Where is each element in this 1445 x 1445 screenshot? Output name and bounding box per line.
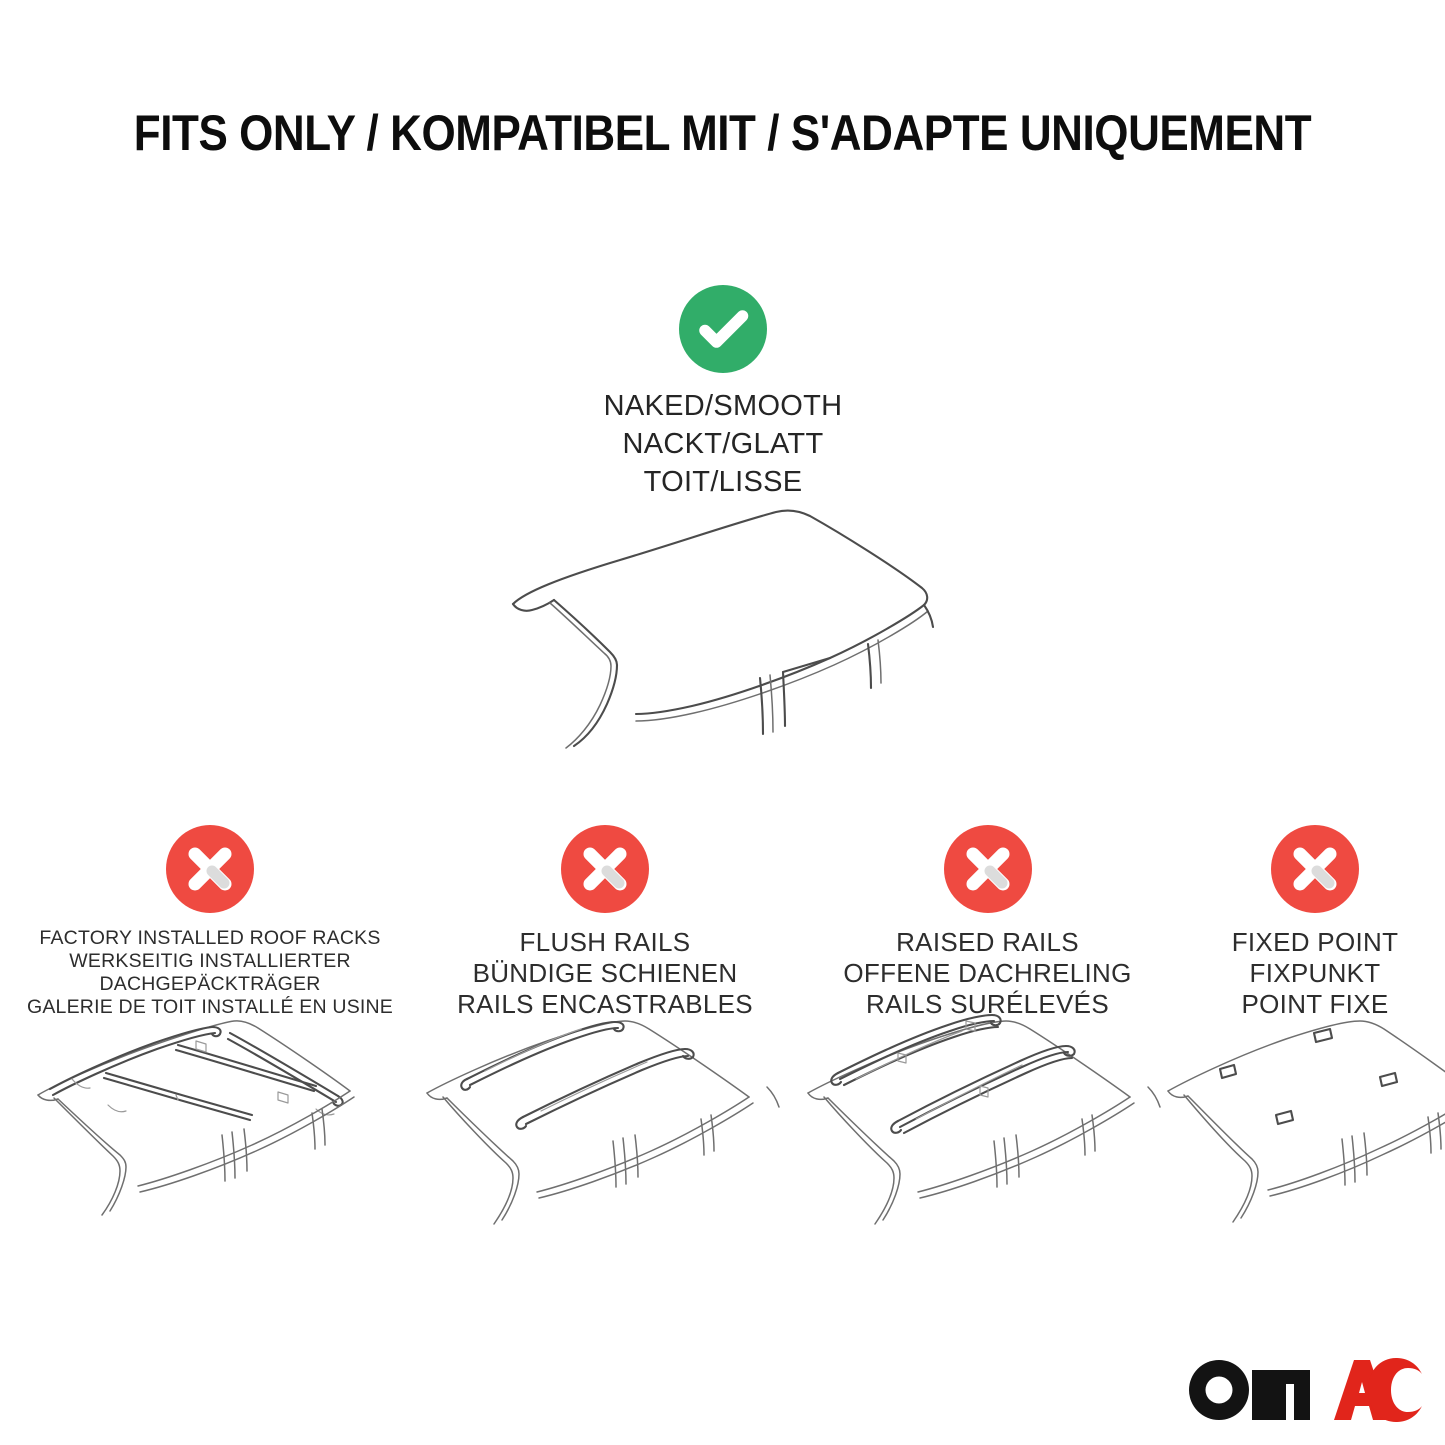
fit-caption-en: NAKED/SMOOTH	[473, 387, 973, 425]
not-fit-item-raised-rails: RAISED RAILS OFFENE DACHRELING RAILS SUR…	[790, 825, 1185, 1020]
fit-caption-de: NACKT/GLATT	[473, 425, 973, 463]
not-fit-badge-3	[944, 825, 1032, 913]
not-fit-item-factory-roof-racks: FACTORY INSTALLED ROOF RACKS WERKSEITIG …	[0, 825, 420, 1020]
factory-roof-rack-illustration	[20, 1003, 400, 1233]
caption-de-1: OFFENE DACHRELING	[790, 958, 1185, 989]
x-glyph-icon	[944, 825, 1032, 913]
caption-en: FIXED POINT	[1185, 927, 1445, 958]
not-fit-badge-1	[166, 825, 254, 913]
not-fit-caption-4: FIXED POINT FIXPUNKT POINT FIXE	[1185, 927, 1445, 1020]
fit-badge	[679, 285, 767, 373]
caption-en: RAISED RAILS	[790, 927, 1185, 958]
caption-de-1: WERKSEITIG INSTALLIERTER	[0, 950, 420, 973]
x-glyph-icon	[561, 825, 649, 913]
not-fit-item-fixed-point: FIXED POINT FIXPUNKT POINT FIXE	[1185, 825, 1445, 1020]
caption-fr: POINT FIXE	[1185, 989, 1445, 1020]
omac-logo	[1186, 1352, 1422, 1426]
x-glyph-icon	[1271, 825, 1359, 913]
fit-type-block: NAKED/SMOOTH NACKT/GLATT TOIT/LISSE	[473, 285, 973, 501]
fit-caption: NAKED/SMOOTH NACKT/GLATT TOIT/LISSE	[473, 387, 973, 501]
caption-de-1: FIXPUNKT	[1185, 958, 1445, 989]
raised-rails-illustration	[798, 1013, 1178, 1243]
not-fit-row: FACTORY INSTALLED ROOF RACKS WERKSEITIG …	[0, 825, 1445, 1020]
caption-en: FACTORY INSTALLED ROOF RACKS	[0, 927, 420, 950]
fixed-point-illustration	[1162, 1017, 1445, 1247]
page-title: FITS ONLY / KOMPATIBEL MIT / S'ADAPTE UN…	[87, 104, 1359, 162]
x-glyph-icon	[166, 825, 254, 913]
caption-en: FLUSH RAILS	[420, 927, 790, 958]
not-fit-caption-3: RAISED RAILS OFFENE DACHRELING RAILS SUR…	[790, 927, 1185, 1020]
flush-rails-illustration	[415, 1013, 795, 1243]
not-fit-badge-4	[1271, 825, 1359, 913]
not-fit-item-flush-rails: FLUSH RAILS BÜNDIGE SCHIENEN RAILS ENCAS…	[420, 825, 790, 1020]
not-fit-caption-2: FLUSH RAILS BÜNDIGE SCHIENEN RAILS ENCAS…	[420, 927, 790, 1020]
smooth-roof-illustration	[470, 492, 980, 762]
caption-de-2: DACHGEPÄCKTRÄGER	[0, 973, 420, 996]
not-fit-badge-2	[561, 825, 649, 913]
check-glyph-icon	[679, 285, 767, 373]
caption-de-1: BÜNDIGE SCHIENEN	[420, 958, 790, 989]
